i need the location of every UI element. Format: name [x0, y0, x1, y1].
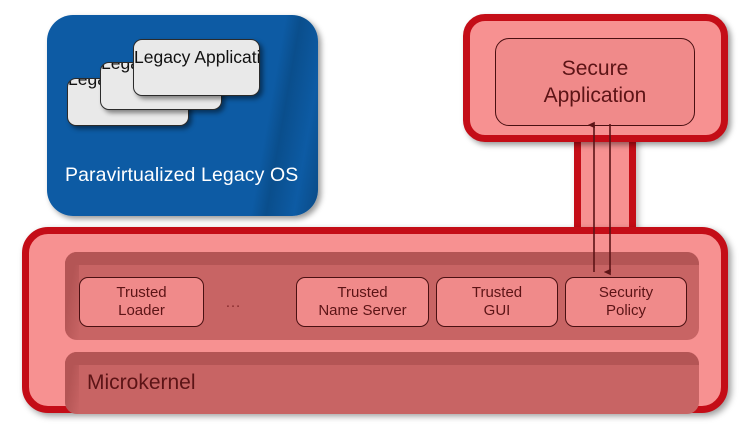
services-ellipsis: … [225, 294, 243, 312]
service-label-trusted-loader: Trusted Loader [116, 284, 166, 320]
secure-application-label: Secure Application [544, 55, 647, 109]
secure-application-connector-stem [574, 128, 636, 240]
trusted-platform-container: … Trusted Loader Trusted Name Server Tru… [22, 227, 728, 413]
microkernel-label: Microkernel [87, 371, 196, 395]
architecture-diagram: Paravirtualized Legacy OS Legacy Applica… [0, 0, 750, 426]
secure-application-box: Secure Application [495, 38, 695, 126]
service-box-trusted-gui: Trusted GUI [436, 277, 558, 327]
service-label-security-policy: Security Policy [599, 284, 653, 320]
trusted-services-bar: … Trusted Loader Trusted Name Server Tru… [65, 252, 699, 340]
service-box-trusted-loader: Trusted Loader [79, 277, 204, 327]
legacy-application-window-3: Legacy Application [133, 39, 260, 96]
service-box-trusted-name-server: Trusted Name Server [296, 277, 429, 327]
legacy-application-label-3: Legacy Application [134, 47, 259, 67]
service-box-security-policy: Security Policy [565, 277, 687, 327]
service-label-trusted-gui: Trusted GUI [472, 284, 522, 320]
service-label-trusted-name-server: Trusted Name Server [318, 284, 406, 320]
secure-application-container: Secure Application [463, 14, 728, 142]
legacy-os-label: Paravirtualized Legacy OS [65, 164, 298, 187]
microkernel-bar: Microkernel [65, 352, 699, 414]
